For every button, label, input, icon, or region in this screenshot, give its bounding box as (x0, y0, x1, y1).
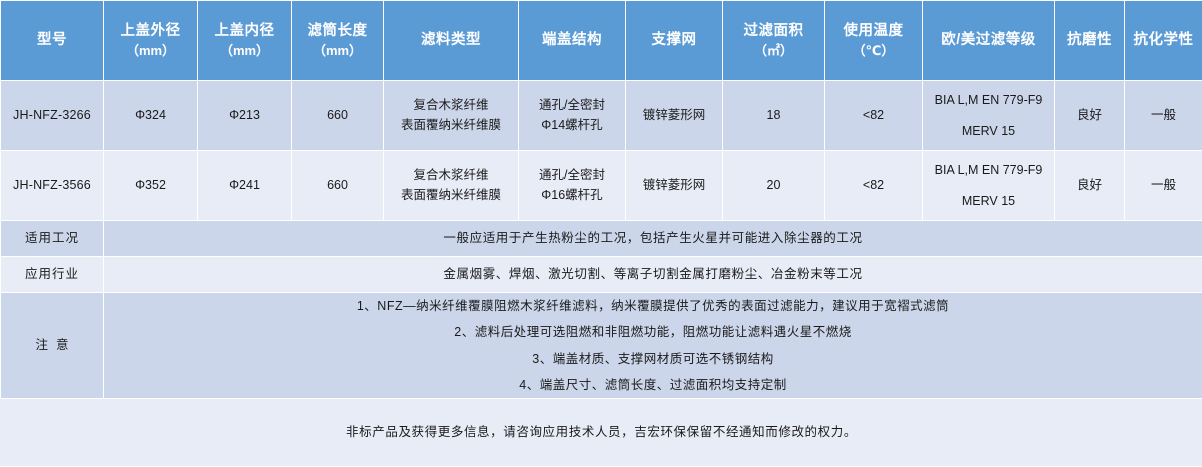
cell-support-mesh: 镀锌菱形网 (626, 151, 723, 221)
application-industries-row: 应用行业 金属烟雾、焊烟、激光切割、等离子切割金属打磨粉尘、冶金粉末等工况 (1, 257, 1202, 293)
header-row: 型号 上盖外径 （mm） 上盖内径 （mm） 滤筒长度 （mm） 滤料类型 端盖… (1, 1, 1202, 81)
col-header-length: 滤筒长度 （mm） (292, 1, 384, 81)
notes-row: 注意 1、NFZ—纳米纤维覆膜阻燃木浆纤维滤料，纳米覆膜提供了优秀的表面过滤能力… (1, 293, 1202, 399)
col-header-outer-diameter-unit: （mm） (104, 42, 197, 60)
cell-endcap-line2: Φ14螺杆孔 (519, 116, 625, 135)
col-header-temperature: 使用温度 （℃） (825, 1, 923, 81)
col-header-temperature-unit: （℃） (825, 42, 922, 60)
cell-grade-us: MERV 15 (923, 195, 1054, 208)
col-header-support-mesh-title: 支撑网 (652, 32, 697, 48)
col-header-chemical-title: 抗化学性 (1134, 32, 1194, 48)
cell-media-type-line2: 表面覆纳米纤维膜 (384, 116, 518, 135)
cell-endcap-line1: 通孔/全密封 (519, 166, 625, 185)
col-header-outer-diameter-title: 上盖外径 (121, 23, 181, 39)
col-header-length-unit: （mm） (292, 42, 383, 60)
col-header-temperature-title: 使用温度 (844, 23, 904, 39)
cell-media-type: 复合木浆纤维 表面覆纳米纤维膜 (384, 81, 519, 151)
cell-filtration-grade: BIA L,M EN 779-F9 MERV 15 (923, 151, 1055, 221)
product-spec-table: 型号 上盖外径 （mm） 上盖内径 （mm） 滤筒长度 （mm） 滤料类型 端盖… (0, 0, 1202, 467)
col-header-abrasion: 抗磨性 (1055, 1, 1125, 81)
cell-filter-area: 20 (723, 151, 825, 221)
cell-grade-eu: BIA L,M EN 779-F9 (923, 94, 1054, 107)
cell-temperature: <82 (825, 81, 923, 151)
table-row: JH-NFZ-3266 Φ324 Φ213 660 复合木浆纤维 表面覆纳米纤维… (1, 81, 1202, 151)
notes-label: 注意 (1, 293, 104, 399)
col-header-filter-area: 过滤面积 （㎡） (723, 1, 825, 81)
col-header-filter-area-unit: （㎡） (723, 42, 824, 60)
cell-inner-diameter: Φ241 (198, 151, 292, 221)
cell-support-mesh: 镀锌菱形网 (626, 81, 723, 151)
cell-inner-diameter: Φ213 (198, 81, 292, 151)
col-header-abrasion-title: 抗磨性 (1067, 32, 1112, 48)
cell-length: 660 (292, 151, 384, 221)
application-industries-label: 应用行业 (1, 257, 104, 293)
col-header-model: 型号 (1, 1, 104, 81)
col-header-filtration-grade: 欧/美过滤等级 (923, 1, 1055, 81)
col-header-inner-diameter: 上盖内径 （mm） (198, 1, 292, 81)
applicable-conditions-row: 适用工况 一般应适用于产生热粉尘的工况，包括产生火星并可能进入除尘器的工况 (1, 221, 1202, 257)
notes-content: 1、NFZ—纳米纤维覆膜阻燃木浆纤维滤料，纳米覆膜提供了优秀的表面过滤能力，建议… (104, 293, 1202, 399)
note-item: 2、滤料后处理可选阻燃和非阻燃功能，阻燃功能让滤料遇火星不燃烧 (104, 319, 1202, 345)
cell-model: JH-NFZ-3566 (1, 151, 104, 221)
footer-note-text: 非标产品及获得更多信息，请咨询应用技术人员，吉宏环保保留不经通知而修改的权力。 (1, 399, 1202, 467)
col-header-media-type: 滤料类型 (384, 1, 519, 81)
col-header-filtration-grade-title: 欧/美过滤等级 (941, 32, 1036, 48)
col-header-filter-area-title: 过滤面积 (744, 23, 804, 39)
note-item: 1、NFZ—纳米纤维覆膜阻燃木浆纤维滤料，纳米覆膜提供了优秀的表面过滤能力，建议… (104, 293, 1202, 319)
cell-filtration-grade: BIA L,M EN 779-F9 MERV 15 (923, 81, 1055, 151)
col-header-support-mesh: 支撑网 (626, 1, 723, 81)
note-item: 4、端盖尺寸、滤筒长度、过滤面积均支持定制 (104, 372, 1202, 398)
cell-abrasion: 良好 (1055, 81, 1125, 151)
cell-abrasion: 良好 (1055, 151, 1125, 221)
applicable-conditions-label: 适用工况 (1, 221, 104, 257)
cell-grade-eu: BIA L,M EN 779-F9 (923, 164, 1054, 177)
note-item: 3、端盖材质、支撑网材质可选不锈钢结构 (104, 346, 1202, 372)
col-header-endcap-title: 端盖结构 (542, 32, 602, 48)
cell-filter-area: 18 (723, 81, 825, 151)
col-header-model-title: 型号 (37, 32, 67, 48)
cell-media-type: 复合木浆纤维 表面覆纳米纤维膜 (384, 151, 519, 221)
col-header-media-type-title: 滤料类型 (421, 32, 481, 48)
table-row: JH-NFZ-3566 Φ352 Φ241 660 复合木浆纤维 表面覆纳米纤维… (1, 151, 1202, 221)
cell-endcap: 通孔/全密封 Φ14螺杆孔 (519, 81, 626, 151)
application-industries-text: 金属烟雾、焊烟、激光切割、等离子切割金属打磨粉尘、冶金粉末等工况 (104, 257, 1202, 293)
cell-chemical: 一般 (1125, 151, 1202, 221)
cell-endcap-line1: 通孔/全密封 (519, 96, 625, 115)
col-header-endcap: 端盖结构 (519, 1, 626, 81)
col-header-length-title: 滤筒长度 (308, 23, 368, 39)
applicable-conditions-text: 一般应适用于产生热粉尘的工况，包括产生火星并可能进入除尘器的工况 (104, 221, 1202, 257)
cell-media-type-line1: 复合木浆纤维 (384, 96, 518, 115)
cell-length: 660 (292, 81, 384, 151)
col-header-outer-diameter: 上盖外径 （mm） (104, 1, 198, 81)
col-header-inner-diameter-unit: （mm） (198, 42, 291, 60)
cell-endcap-line2: Φ16螺杆孔 (519, 186, 625, 205)
cell-outer-diameter: Φ352 (104, 151, 198, 221)
cell-temperature: <82 (825, 151, 923, 221)
cell-outer-diameter: Φ324 (104, 81, 198, 151)
table-header: 型号 上盖外径 （mm） 上盖内径 （mm） 滤筒长度 （mm） 滤料类型 端盖… (1, 1, 1202, 81)
col-header-inner-diameter-title: 上盖内径 (215, 23, 275, 39)
col-header-chemical: 抗化学性 (1125, 1, 1202, 81)
cell-media-type-line2: 表面覆纳米纤维膜 (384, 186, 518, 205)
cell-endcap: 通孔/全密封 Φ16螺杆孔 (519, 151, 626, 221)
cell-media-type-line1: 复合木浆纤维 (384, 166, 518, 185)
cell-model: JH-NFZ-3266 (1, 81, 104, 151)
footer-note-row: 非标产品及获得更多信息，请咨询应用技术人员，吉宏环保保留不经通知而修改的权力。 (1, 399, 1202, 467)
table-body: JH-NFZ-3266 Φ324 Φ213 660 复合木浆纤维 表面覆纳米纤维… (1, 81, 1202, 467)
cell-chemical: 一般 (1125, 81, 1202, 151)
cell-grade-us: MERV 15 (923, 125, 1054, 138)
